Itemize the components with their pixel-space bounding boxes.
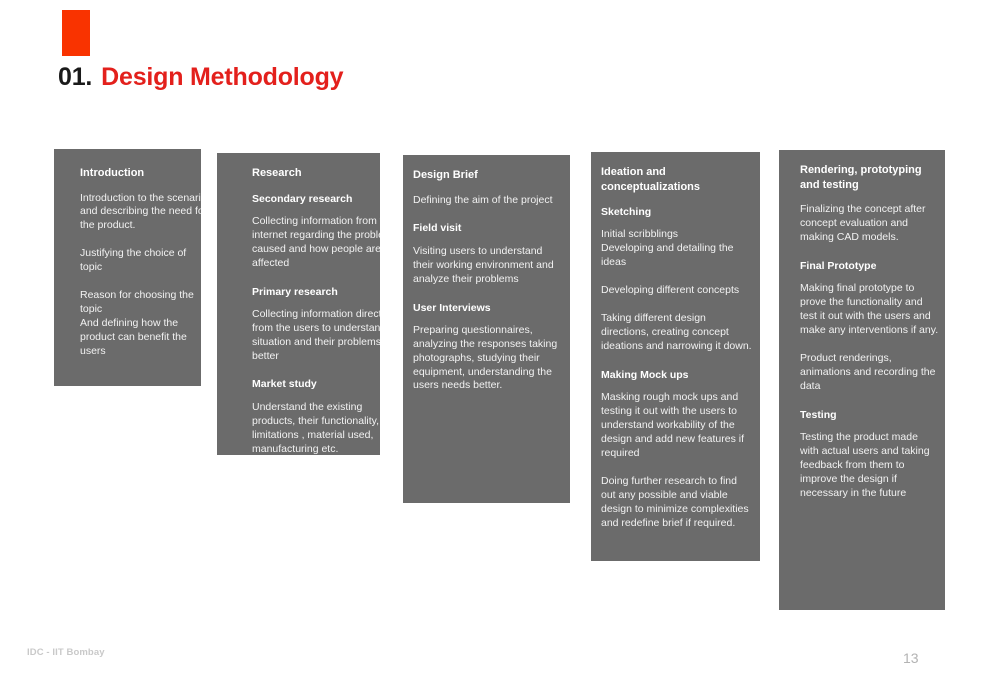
card-subheading: Making Mock ups (601, 368, 753, 382)
card-title: Introduction (80, 166, 201, 181)
card-subheading: User Interviews (413, 301, 563, 315)
card-paragraph: Initial scribblingsDeveloping and detail… (601, 228, 753, 270)
card-content: IntroductionIntroduction to the scenario… (80, 166, 201, 359)
card-subheading: Market study (252, 377, 380, 391)
card-content: Design BriefDefining the aim of the proj… (413, 168, 563, 393)
card-paragraph: Making final prototype to prove the func… (800, 282, 939, 338)
card-subheading: Field visit (413, 221, 563, 235)
methodology-card: Rendering, prototyping and testingFinali… (779, 150, 945, 610)
methodology-card: IntroductionIntroduction to the scenario… (54, 149, 201, 386)
card-paragraph: Doing further research to find out any p… (601, 475, 753, 531)
card-subheading: Testing (800, 408, 939, 422)
card-paragraph: Taking different design directions, crea… (601, 312, 753, 354)
card-paragraph: Understand the existing products, their … (252, 401, 380, 455)
card-title: Research (252, 166, 380, 181)
card-title: Ideation and conceptualizations (601, 165, 753, 194)
slide-canvas: 01. Design Methodology IntroductionIntro… (0, 0, 1000, 692)
card-title: Rendering, prototyping and testing (800, 163, 939, 192)
card-content: ResearchSecondary researchCollecting inf… (252, 166, 380, 455)
card-content: Rendering, prototyping and testingFinali… (800, 163, 939, 501)
card-paragraph: Developing different concepts (601, 284, 753, 298)
card-paragraph: Visiting users to understand their worki… (413, 245, 563, 287)
card-subheading: Primary research (252, 285, 380, 299)
card-content: Ideation and conceptualizationsSketching… (601, 165, 753, 531)
card-title: Design Brief (413, 168, 563, 183)
methodology-card-group: IntroductionIntroduction to the scenario… (0, 0, 1000, 692)
card-paragraph: Product renderings, animations and recor… (800, 352, 939, 394)
card-paragraph: Collecting information from the internet… (252, 215, 380, 271)
card-paragraph: Masking rough mock ups and testing it ou… (601, 391, 753, 461)
methodology-card: Design BriefDefining the aim of the proj… (403, 155, 570, 503)
card-subheading: Final Prototype (800, 259, 939, 273)
card-paragraph: Testing the product made with actual use… (800, 431, 939, 501)
card-paragraph: Reason for choosing the topicAnd definin… (80, 289, 201, 359)
methodology-card: Ideation and conceptualizationsSketching… (591, 152, 760, 561)
card-subheading: Sketching (601, 205, 753, 219)
card-paragraph: Defining the aim of the project (413, 194, 563, 208)
methodology-card: ResearchSecondary researchCollecting inf… (217, 153, 380, 455)
card-paragraph: Preparing questionnaires, analyzing the … (413, 324, 563, 394)
card-paragraph: Justifying the choice of topic (80, 247, 201, 275)
card-paragraph: Collecting information directly from the… (252, 308, 380, 364)
card-paragraph: Introduction to the scenario and describ… (80, 192, 201, 234)
page-number: 13 (903, 650, 919, 666)
footer-organization: IDC - IIT Bombay (27, 647, 105, 658)
card-subheading: Secondary research (252, 192, 380, 206)
card-paragraph: Finalizing the concept after concept eva… (800, 203, 939, 245)
